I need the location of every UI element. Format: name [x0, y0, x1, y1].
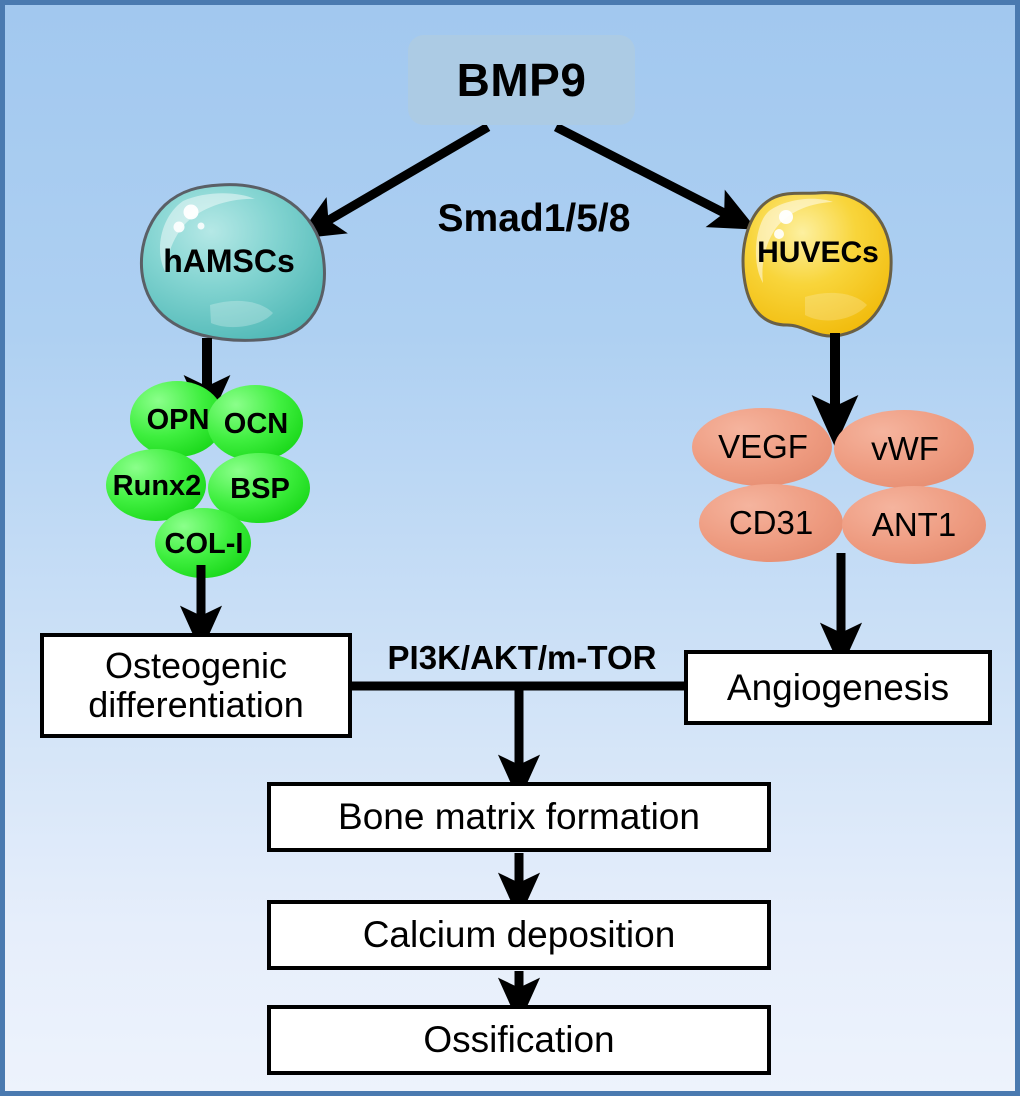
process-label-osteogenic-differentiation: Osteogenicdifferentiation	[82, 647, 310, 725]
marker-label-bsp: BSP	[215, 473, 305, 506]
huvecs-label: HUVECs	[728, 236, 908, 270]
hamscs-label: hAMSCs	[129, 243, 329, 280]
bmp9-label: BMP9	[457, 53, 587, 107]
process-box-angiogenesis[interactable]: Angiogenesis	[684, 650, 992, 725]
pathway-label-pi3k-akt-mtor: PI3K/AKT/m-TOR	[357, 639, 687, 677]
smad-label: Smad1/5/8	[409, 197, 659, 241]
bmp9-node[interactable]: BMP9	[408, 35, 635, 125]
process-label-calcium-deposition: Calcium deposition	[357, 916, 682, 954]
marker-label-runx2: Runx2	[101, 470, 213, 503]
marker-label-ocn: OCN	[211, 408, 301, 441]
marker-label-col1: COL-I	[151, 528, 257, 561]
process-box-osteogenic-differentiation[interactable]: Osteogenicdifferentiation	[40, 633, 352, 738]
process-box-ossification[interactable]: Ossification	[267, 1005, 771, 1075]
process-label-angiogenesis: Angiogenesis	[721, 669, 955, 707]
process-box-bone-matrix-formation[interactable]: Bone matrix formation	[267, 782, 771, 852]
process-label-ossification: Ossification	[417, 1021, 620, 1059]
marker-label-opn: OPN	[133, 404, 223, 437]
pathway-diagram: BMP9 Smad1/5/8 hAMSCs HUVECs OPN OCN Run…	[0, 0, 1020, 1096]
marker-label-cd31: CD31	[705, 504, 837, 542]
marker-label-vegf: VEGF	[697, 428, 829, 466]
marker-label-vwf: vWF	[843, 430, 967, 468]
marker-label-ant1: ANT1	[852, 506, 976, 544]
process-box-calcium-deposition[interactable]: Calcium deposition	[267, 900, 771, 970]
process-label-bone-matrix-formation: Bone matrix formation	[332, 798, 706, 836]
